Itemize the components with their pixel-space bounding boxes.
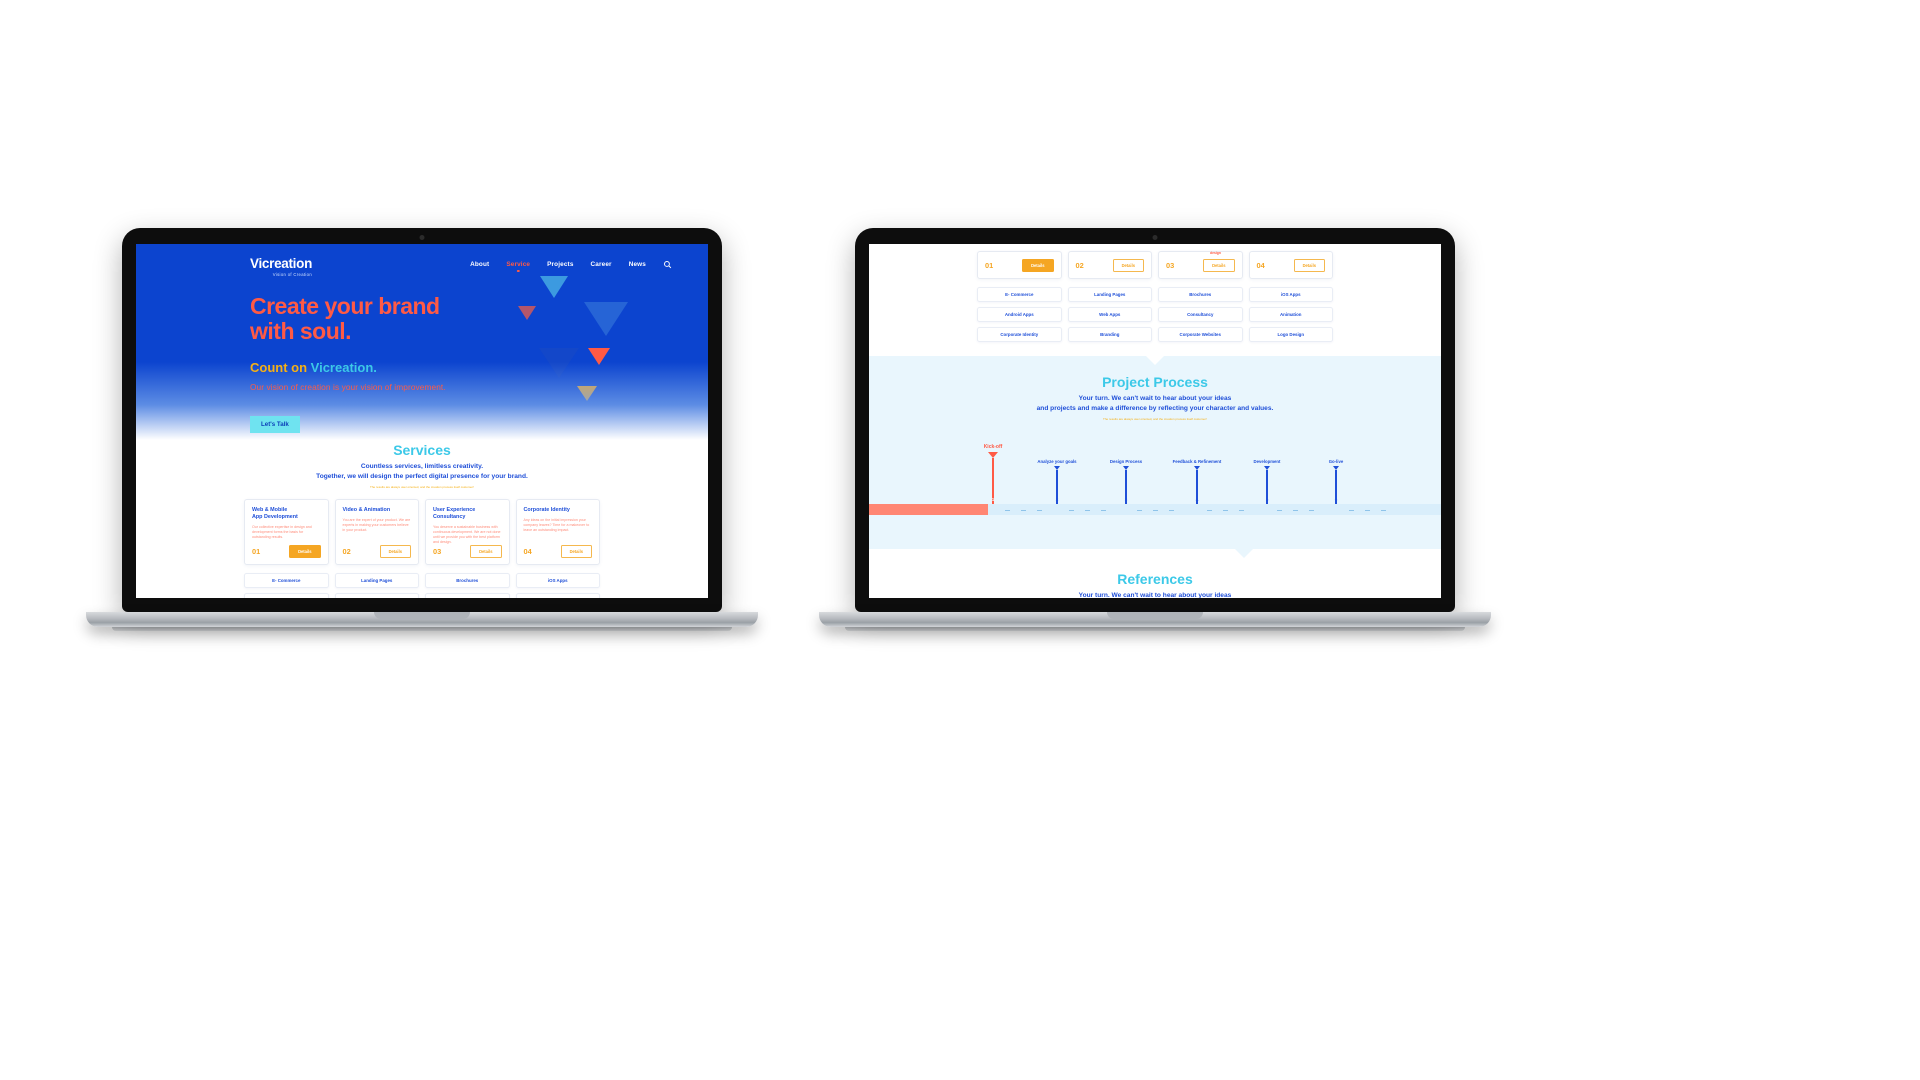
- timeline-step-number: 5: [1266, 497, 1269, 502]
- service-card[interactable]: 04 Details: [1249, 251, 1334, 279]
- service-card-number: 02: [343, 547, 351, 556]
- timeline-dash: [1223, 510, 1228, 511]
- tag-item[interactable]: E- Commerce: [977, 287, 1062, 302]
- details-button[interactable]: Details: [1022, 259, 1053, 272]
- service-card[interactable]: Web & MobileApp Development Our collecti…: [244, 499, 329, 566]
- details-button[interactable]: Details: [1294, 259, 1325, 272]
- timeline-dash: [1207, 510, 1212, 511]
- references-subtitle: Your turn. We can't wait to hear about y…: [869, 591, 1441, 598]
- service-card-number: 01: [252, 547, 260, 556]
- timeline-step-number: 3: [1125, 497, 1128, 502]
- service-card-number: 01: [985, 261, 993, 270]
- timeline-step-2[interactable]: Analyze your goals 2: [1054, 466, 1060, 504]
- details-button[interactable]: Details: [289, 545, 320, 558]
- tag-item[interactable]: Web Apps: [335, 593, 420, 598]
- logo-tagline: Vision of Creation: [250, 272, 312, 277]
- timeline-dash: [1239, 510, 1244, 511]
- services-subtitle: Countless services, limitless creativity…: [136, 462, 708, 482]
- details-button[interactable]: Details: [561, 545, 592, 558]
- process-subtitle-line2: and projects and make a difference by re…: [869, 404, 1441, 414]
- details-button[interactable]: Details: [380, 545, 411, 558]
- services-title: Services: [136, 442, 708, 458]
- tag-item[interactable]: Animation: [1249, 307, 1334, 322]
- service-card-desc: You are the expert of your product. We a…: [343, 518, 412, 534]
- laptop-base-left: [86, 612, 758, 627]
- timeline-dash: [1153, 510, 1158, 511]
- timeline-dash: [1085, 510, 1090, 511]
- service-card-title: Video & Animation: [343, 507, 412, 514]
- service-card[interactable]: Video & Animation You are the expert of …: [335, 499, 420, 566]
- timeline-dash: [1365, 510, 1370, 511]
- timeline-dash: [1169, 510, 1174, 511]
- tag-row: E- Commerce Landing Pages Brochures iOS …: [977, 287, 1333, 302]
- timeline-dash: [1005, 510, 1010, 511]
- timeline-step-label: Feedback & Refinement: [1173, 459, 1222, 464]
- service-card-footer: 03 Details: [1166, 259, 1235, 272]
- timeline-step-label: Go-live: [1329, 459, 1344, 464]
- service-card[interactable]: 01 Details: [977, 251, 1062, 279]
- lets-talk-button[interactable]: Let's Talk: [250, 416, 300, 433]
- tag-item[interactable]: Android Apps: [977, 307, 1062, 322]
- process-subtitle-line1: Your turn. We can't wait to hear about y…: [869, 394, 1441, 404]
- laptop-notch-left: [374, 612, 470, 619]
- service-cards-scrolled: design 01 Details 02 Details: [869, 244, 1441, 342]
- service-card-number: 03: [1166, 261, 1174, 270]
- laptop-base-right: [819, 612, 1491, 627]
- project-process-section: Project Process Your turn. We can't wait…: [869, 356, 1441, 549]
- service-card[interactable]: 02 Details: [1068, 251, 1153, 279]
- tag-item[interactable]: Corporate Identity: [977, 327, 1062, 342]
- laptop-mockup-right: design 01 Details 02 Details: [855, 228, 1455, 631]
- references-title: References: [869, 571, 1441, 587]
- details-button[interactable]: Details: [1113, 259, 1144, 272]
- process-title: Project Process: [869, 374, 1441, 390]
- timeline-step-number: 2: [1056, 497, 1059, 502]
- timeline-dash: [1381, 510, 1386, 511]
- hero-section: Vicreation Vision of Creation About Serv…: [136, 244, 708, 440]
- service-tags: E- Commerce Landing Pages Brochures iOS …: [869, 287, 1441, 342]
- timeline-step-number: 4: [1196, 497, 1199, 502]
- process-timeline: Kick-off 1 Analyze your goals 2: [869, 443, 1441, 515]
- process-spacer: [869, 515, 1441, 549]
- service-card-footer: 04 Details: [1257, 259, 1326, 272]
- hero-subtitle: Count on Vicreation.: [250, 360, 708, 375]
- logo-text: Vicreation: [250, 256, 312, 271]
- top-navigation: Vicreation Vision of Creation About Serv…: [136, 244, 708, 277]
- service-card-desc: You deserve a sustainable business with …: [433, 525, 502, 546]
- website-screen-hero: Vicreation Vision of Creation About Serv…: [136, 244, 708, 598]
- hero-title-line2: with soul.: [250, 319, 708, 344]
- tag-item[interactable]: Brochures: [1158, 287, 1243, 302]
- logo[interactable]: Vicreation Vision of Creation: [250, 256, 312, 277]
- laptop-foot-left: [112, 627, 732, 631]
- timeline-dash: [1277, 510, 1282, 511]
- website-screen-process: design 01 Details 02 Details: [869, 244, 1441, 598]
- service-card[interactable]: 03 Details: [1158, 251, 1243, 279]
- hero-title: Create your brand with soul.: [250, 294, 708, 343]
- service-card-desc: Our collective expertise in design and d…: [252, 525, 321, 541]
- right-screen-content: design 01 Details 02 Details: [869, 244, 1441, 598]
- tag-row: E- Commerce Landing Pages Brochures iOS …: [244, 573, 600, 588]
- service-card-number: 04: [1257, 261, 1265, 270]
- wedge-bottom-decor: [1235, 549, 1253, 558]
- tag-item[interactable]: Animation: [516, 593, 601, 598]
- service-card-title: Web & MobileApp Development: [252, 507, 321, 521]
- service-card-footer: 02 Details: [1076, 259, 1145, 272]
- nav-links: About Service Projects Career News: [470, 256, 686, 269]
- tag-row: Android Apps Web Apps Consultancy Animat…: [244, 593, 600, 598]
- nav-item-projects[interactable]: Projects: [547, 261, 573, 268]
- tag-item[interactable]: Brochures: [425, 573, 510, 588]
- timeline-dash: [1101, 510, 1106, 511]
- timeline-dash: [1069, 510, 1074, 511]
- tag-item[interactable]: Landing Pages: [1068, 287, 1153, 302]
- timeline-step-number: 6: [1335, 497, 1338, 502]
- laptop-lid-left: Vicreation Vision of Creation About Serv…: [122, 228, 722, 612]
- timeline-step-4[interactable]: Feedback & Refinement 4: [1194, 466, 1200, 504]
- service-card-footer: 02 Details: [343, 545, 412, 558]
- timeline-dash: [1309, 510, 1314, 511]
- laptop-notch-right: [1107, 612, 1203, 619]
- timeline-dash: [1137, 510, 1142, 511]
- timeline-step-kickoff[interactable]: Kick-off 1: [988, 452, 998, 504]
- service-card-number: 02: [1076, 261, 1084, 270]
- service-card[interactable]: Corporate Identity Any ideas on the init…: [516, 499, 601, 566]
- tag-item[interactable]: Logo Design: [1249, 327, 1334, 342]
- service-card-footer: 04 Details: [524, 545, 593, 558]
- process-note: The results are always user oriented, an…: [869, 417, 1441, 421]
- references-section: References Your turn. We can't wait to h…: [869, 549, 1441, 598]
- timeline-dash: [1293, 510, 1298, 511]
- timeline-step-6[interactable]: Go-live 6: [1333, 466, 1339, 504]
- hero-subtitle-yellow: Count on: [250, 360, 311, 375]
- laptop-foot-right: [845, 627, 1465, 631]
- nav-item-about[interactable]: About: [470, 261, 489, 268]
- nav-item-career[interactable]: Career: [591, 261, 612, 268]
- service-card-footer: 03 Details: [433, 545, 502, 558]
- hero-tagline: Our vision of creation is your vision of…: [250, 382, 708, 392]
- nav-item-news[interactable]: News: [629, 261, 646, 268]
- search-icon[interactable]: [663, 260, 672, 269]
- tag-item[interactable]: E- Commerce: [244, 573, 329, 588]
- tag-item[interactable]: Consultancy: [1158, 307, 1243, 322]
- laptop-lid-right: design 01 Details 02 Details: [855, 228, 1455, 612]
- tag-item[interactable]: Branding: [1068, 327, 1153, 342]
- service-cards: Web & MobileApp Development Our collecti…: [136, 499, 708, 566]
- services-subtitle-line1: Countless services, limitless creativity…: [136, 462, 708, 472]
- hero-title-line1: Create your brand: [250, 294, 708, 319]
- timeline-dash: [1021, 510, 1026, 511]
- service-card[interactable]: User ExperienceConsultancy You deserve a…: [425, 499, 510, 566]
- tag-row: Corporate Identity Branding Corporate We…: [977, 327, 1333, 342]
- service-tags: E- Commerce Landing Pages Brochures iOS …: [136, 573, 708, 598]
- services-note: The results are always user oriented, an…: [136, 485, 708, 489]
- services-subtitle-line2: Together, we will design the perfect dig…: [136, 472, 708, 482]
- references-subtitle-line1: Your turn. We can't wait to hear about y…: [869, 591, 1441, 598]
- details-button[interactable]: Details: [1203, 259, 1234, 272]
- tag-row: Android Apps Web Apps Consultancy Animat…: [977, 307, 1333, 322]
- timeline-step-number: 1: [992, 497, 995, 502]
- timeline-step-label: Kick-off: [984, 444, 1003, 450]
- service-card-footer: 01 Details: [985, 259, 1054, 272]
- tag-item[interactable]: Android Apps: [244, 593, 329, 598]
- timeline-dash: [1037, 510, 1042, 511]
- service-card-desc: Any ideas on the initial impression your…: [524, 518, 593, 534]
- process-subtitle: Your turn. We can't wait to hear about y…: [869, 394, 1441, 414]
- nav-item-service[interactable]: Service: [506, 261, 530, 268]
- timeline-dash: [1349, 510, 1354, 511]
- tag-item[interactable]: Web Apps: [1068, 307, 1153, 322]
- hero-content: Create your brand with soul. Count on Vi…: [136, 277, 708, 433]
- service-cards: 01 Details 02 Details 03: [869, 251, 1441, 279]
- timeline-step-label: Analyze your goals: [1037, 459, 1076, 464]
- timeline-bar-active: [869, 504, 988, 515]
- timeline-step-5[interactable]: Development 5: [1264, 466, 1270, 504]
- timeline-step-label: Design Process: [1110, 459, 1142, 464]
- service-card-title: User ExperienceConsultancy: [433, 507, 502, 521]
- timeline-step-3[interactable]: Design Process 3: [1123, 466, 1129, 504]
- tag-item[interactable]: iOS Apps: [1249, 287, 1334, 302]
- services-section: Services Countless services, limitless c…: [136, 440, 708, 598]
- tag-item[interactable]: Consultancy: [425, 593, 510, 598]
- service-card-number: 04: [524, 547, 532, 556]
- design-note: design: [1210, 251, 1221, 255]
- details-button[interactable]: Details: [470, 545, 501, 558]
- timeline-step-label: Development: [1254, 459, 1281, 464]
- wedge-top-decor: [1146, 356, 1164, 365]
- hero-subtitle-cyan: Vicreation.: [311, 360, 377, 375]
- service-card-number: 03: [433, 547, 441, 556]
- service-card-footer: 01 Details: [252, 545, 321, 558]
- tag-item[interactable]: Landing Pages: [335, 573, 420, 588]
- laptop-mockup-left: Vicreation Vision of Creation About Serv…: [122, 228, 722, 631]
- tag-item[interactable]: Corporate Websites: [1158, 327, 1243, 342]
- service-card-title: Corporate Identity: [524, 507, 593, 514]
- tag-item[interactable]: iOS Apps: [516, 573, 601, 588]
